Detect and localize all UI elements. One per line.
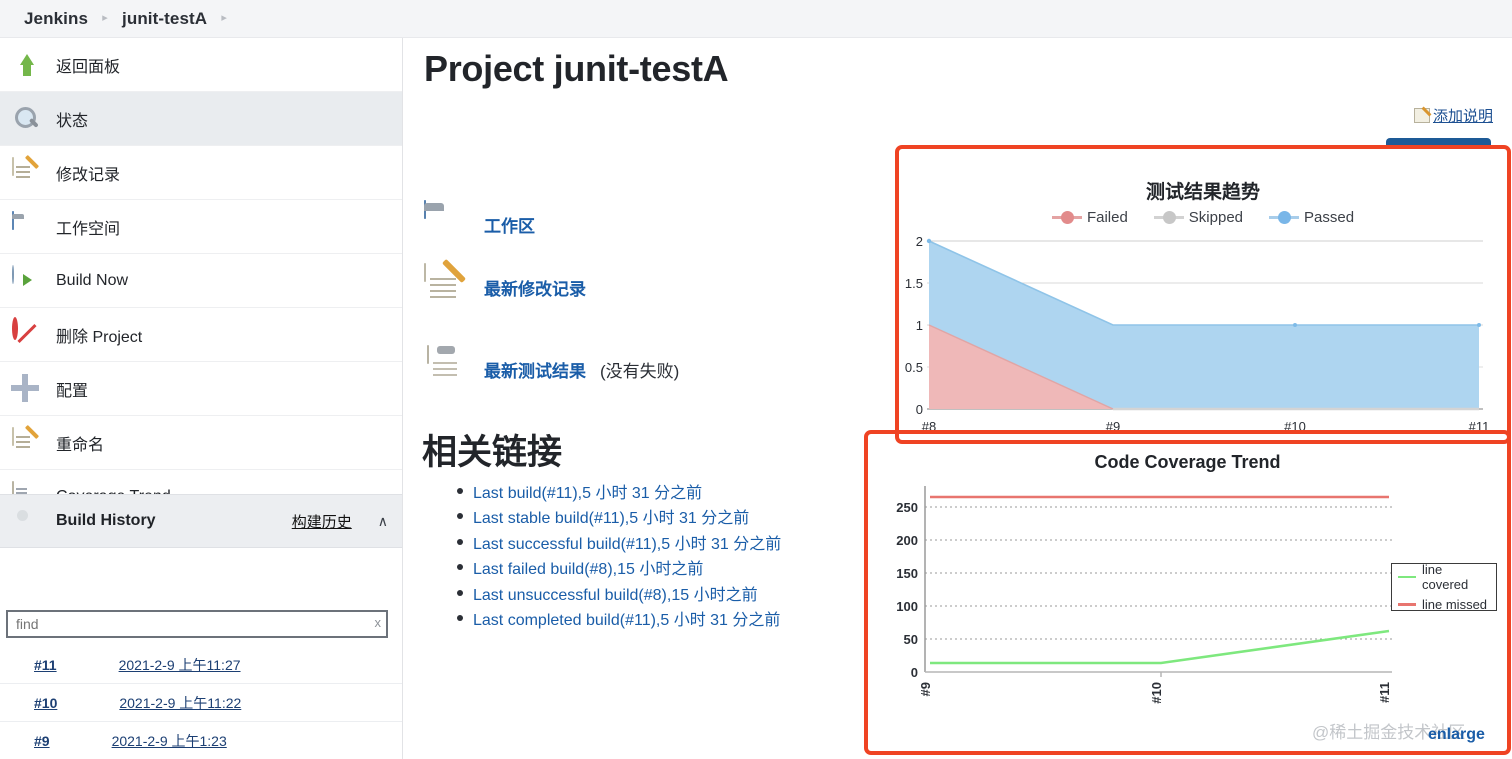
list-item[interactable]: Last completed build(#11),5 小时 31 分之前	[457, 606, 781, 632]
sidebar-item-build-now[interactable]: Build Now	[0, 254, 402, 308]
quick-link-label: 工作区	[484, 212, 535, 237]
build-history-find-wrapper: x	[6, 610, 388, 638]
list-item[interactable]: Last build(#11),5 小时 31 分之前	[457, 478, 781, 504]
quick-link-label: 最新测试结果	[484, 357, 586, 382]
build-history-link[interactable]: 构建历史	[292, 511, 352, 532]
add-description-link[interactable]: 添加说明	[1414, 105, 1493, 126]
sidebar-item-status[interactable]: 状态	[0, 92, 402, 146]
folder-icon	[424, 201, 470, 247]
breadcrumb: Jenkins ▸ junit-testA ▸	[0, 0, 1512, 38]
sidebar-item-label: 工作空间	[56, 215, 120, 239]
edit-note-icon	[1414, 108, 1430, 123]
bullet-icon	[457, 513, 463, 519]
list-item[interactable]: Last unsuccessful build(#8),15 小时之前	[457, 580, 781, 606]
related-link-label: Last successful build(#11),5 小时 31 分之前	[473, 530, 781, 554]
build-number-link[interactable]: #10	[34, 695, 57, 711]
clipboard-icon	[424, 346, 470, 392]
build-history-title: Build History	[56, 512, 156, 530]
notepad-edit-icon	[424, 264, 470, 310]
notepad-edit-icon	[12, 428, 42, 458]
folder-icon	[12, 212, 42, 242]
gear-icon	[12, 374, 42, 404]
related-link-label: Last completed build(#11),5 小时 31 分之前	[473, 606, 780, 630]
related-link-label: Last failed build(#8),15 小时之前	[473, 555, 703, 579]
sidebar-item-rename[interactable]: 重命名	[0, 416, 402, 470]
build-status-ball-icon	[10, 696, 24, 710]
related-links-list: Last build(#11),5 小时 31 分之前 Last stable …	[457, 478, 781, 631]
sidebar-item-changes[interactable]: 修改记录	[0, 146, 402, 200]
sidebar-item-label: 修改记录	[56, 161, 120, 185]
build-date-link[interactable]: 2021-2-9 上午11:22	[119, 693, 241, 713]
no-entry-icon	[12, 320, 42, 350]
build-history-row[interactable]: #10 2021-2-9 上午11:22	[0, 684, 402, 722]
build-date-link[interactable]: 2021-2-9 上午11:27	[119, 655, 241, 675]
chevron-right-icon: ▸	[92, 13, 118, 24]
build-status-ball-icon	[10, 734, 24, 748]
quick-link-workspace[interactable]: 工作区	[424, 201, 535, 247]
related-link-label: Last unsuccessful build(#8),15 小时之前	[473, 581, 758, 605]
sidebar-item-configure[interactable]: 配置	[0, 362, 402, 416]
annotation-box-test-trend	[895, 145, 1511, 444]
build-history-header[interactable]: Build History 构建历史 ∧	[0, 494, 402, 548]
list-item[interactable]: Last failed build(#8),15 小时之前	[457, 555, 781, 581]
sidebar-item-label: 状态	[56, 107, 88, 131]
sidebar-item-label: 删除 Project	[56, 323, 142, 347]
sidebar-item-label: 返回面板	[56, 53, 120, 77]
chevron-right-icon-2[interactable]: ▸	[211, 13, 237, 24]
add-description-label: 添加说明	[1433, 105, 1493, 126]
page-title: Project junit-testA	[424, 48, 728, 90]
bullet-icon	[457, 539, 463, 545]
play-icon	[12, 266, 42, 296]
quick-link-latest-test-result[interactable]: 最新测试结果 (没有失败)	[424, 346, 679, 392]
enlarge-link[interactable]: enlarge	[1428, 726, 1485, 744]
sidebar-item-delete-project[interactable]: 删除 Project	[0, 308, 402, 362]
bullet-icon	[457, 564, 463, 570]
breadcrumb-item-project[interactable]: junit-testA	[122, 9, 207, 29]
annotation-box-coverage-trend	[864, 430, 1511, 755]
chevron-up-icon[interactable]: ∧	[378, 513, 388, 530]
sidebar-item-label: 配置	[56, 377, 88, 401]
related-links-heading: 相关链接	[422, 424, 562, 475]
build-number-link[interactable]: #11	[34, 657, 57, 673]
build-date-link[interactable]: 2021-2-9 上午1:23	[112, 731, 227, 751]
build-status-ball-icon	[10, 658, 24, 672]
build-number-link[interactable]: #9	[34, 733, 50, 749]
list-item[interactable]: Last stable build(#11),5 小时 31 分之前	[457, 504, 781, 530]
list-item[interactable]: Last successful build(#11),5 小时 31 分之前	[457, 529, 781, 555]
related-link-label: Last build(#11),5 小时 31 分之前	[473, 479, 702, 503]
quick-link-recent-changes[interactable]: 最新修改记录	[424, 264, 586, 310]
build-history-row[interactable]: #9 2021-2-9 上午1:23	[0, 722, 402, 759]
jenkins-project-page: Jenkins ▸ junit-testA ▸ 返回面板 状态 修改记录 工作空…	[0, 0, 1512, 759]
quick-link-suffix: (没有失败)	[600, 357, 679, 382]
build-history-row[interactable]: #11 2021-2-9 上午11:27	[0, 646, 402, 684]
bullet-icon	[457, 488, 463, 494]
quick-link-label: 最新修改记录	[484, 275, 586, 300]
bullet-icon	[457, 590, 463, 596]
search-icon	[12, 104, 42, 134]
cloud-icon	[12, 506, 42, 536]
clear-icon[interactable]: x	[375, 615, 382, 630]
sidebar-item-back-to-dashboard[interactable]: 返回面板	[0, 38, 402, 92]
breadcrumb-item-jenkins[interactable]: Jenkins	[24, 9, 88, 29]
build-history-find-input[interactable]	[6, 610, 388, 638]
related-link-label: Last stable build(#11),5 小时 31 分之前	[473, 504, 749, 528]
sidebar-item-label: 重命名	[56, 431, 104, 455]
notepad-edit-icon	[12, 158, 42, 188]
up-arrow-icon	[12, 50, 42, 80]
sidebar-item-label: Build Now	[56, 272, 128, 290]
bullet-icon	[457, 615, 463, 621]
sidebar-item-workspace[interactable]: 工作空间	[0, 200, 402, 254]
